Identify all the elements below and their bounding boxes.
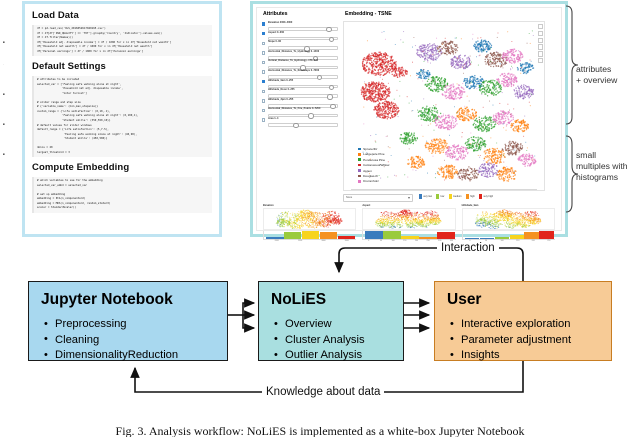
attribute-label: Hillshade_3pm 0..255: [268, 98, 338, 101]
notebook-heading-compute-embedding: Compute Embedding: [32, 162, 212, 173]
attribute-checkbox[interactable]: [262, 70, 265, 73]
histogram-bar[interactable]: [480, 238, 495, 239]
attribute-checkbox[interactable]: [262, 61, 265, 64]
margin-tick: ·: [3, 62, 4, 66]
attribute-slider-row[interactable]: Hillshade_3pm 0..255: [261, 98, 339, 108]
annotation-line: histograms: [576, 172, 638, 183]
box-item: Cleaning: [55, 333, 227, 349]
legend-swatch: [358, 158, 361, 161]
attribute-slider-row[interactable]: Elevation 2000..4000: [261, 21, 339, 31]
attribute-checkbox[interactable]: [262, 32, 265, 35]
legend-swatch: [358, 180, 361, 183]
notebook-code-cell-load-data[interactable]: df = pd.read_csv('OLS_2016052617040165.c…: [32, 25, 212, 56]
small-multiple-scatter[interactable]: [362, 208, 455, 230]
box-item: Interactive exploration: [461, 317, 611, 333]
attribute-range-slider[interactable]: [268, 123, 338, 127]
attribute-label: Slope 0..60: [268, 40, 338, 43]
attribute-slider-row[interactable]: Hillshade_9am 0..255: [261, 79, 339, 89]
histogram-bar[interactable]: [539, 231, 554, 239]
attribute-checkbox[interactable]: [262, 42, 265, 45]
edge-label-knowledge: Knowledge about data: [262, 386, 384, 398]
attributes-panel-title: Attributes: [263, 11, 288, 17]
axis-tick-label: 250: [547, 240, 550, 242]
histogram-bar[interactable]: [284, 232, 302, 238]
box-item: Insights: [461, 348, 611, 364]
axis-tick-label: 3000: [321, 240, 325, 242]
figure-caption: Fig. 3. Analysis workflow: NoLiES is imp…: [18, 424, 622, 437]
attribute-label: Hillshade_Noon 0..255: [268, 88, 338, 91]
small-multiple-scatter[interactable]: [462, 208, 555, 230]
attribute-label: Horizontal_Distance_To_Roadways 0..7000: [268, 69, 338, 72]
attribute-checkbox[interactable]: [262, 99, 265, 102]
small-multiple-scatter[interactable]: [263, 208, 356, 230]
histogram-x-axis: 2000250030003500: [263, 240, 356, 243]
help-icon[interactable]: [538, 58, 543, 63]
annotation-line: attributes: [576, 64, 638, 75]
legend-swatch: [358, 153, 361, 156]
histogram-bar[interactable]: [437, 232, 455, 238]
embedding-legend[interactable]: Spruce/FirLodgepole PinePonderosa PineCo…: [358, 146, 389, 184]
box-item: Cluster Analysis: [285, 333, 403, 349]
axis-tick-label: 150: [516, 240, 519, 242]
attribute-checkbox[interactable]: [262, 51, 265, 54]
jupyter-notebook-screenshot: Load Data df = pd.read_csv('OLS_20160526…: [22, 1, 222, 237]
margin-tick: ■: [3, 40, 5, 44]
histogram-bar[interactable]: [495, 237, 510, 238]
attribute-label: Elevation 2000..4000: [268, 21, 338, 24]
bin-swatch: [436, 194, 439, 199]
figure-root: Load Data df = pd.read_csv('OLS_20160526…: [0, 0, 640, 438]
bin-swatch: [466, 194, 469, 199]
histogram-bar[interactable]: [510, 235, 525, 238]
attribute-slider-row[interactable]: Vertical_Distance_To_Hydrology -170..600: [261, 59, 339, 69]
chevron-down-icon: [408, 197, 410, 199]
color-attribute-select[interactable]: None: [343, 194, 413, 202]
legend-swatch: [358, 164, 361, 167]
notebook-code-cell-compute-embedding[interactable]: # which variables to use for the embeddi…: [32, 177, 212, 213]
legend-label: Cottonwood/Willow: [363, 163, 389, 167]
attribute-label: Horizontal_Distance_To_Fire_Points 0..72…: [268, 107, 338, 110]
notebook-heading-load-data: Load Data: [32, 10, 212, 21]
legend-swatch: [358, 175, 361, 178]
axis-tick-label: 100: [391, 240, 394, 242]
nolies-app-screenshot: Attributes Embedding - TSNE Elevation 20…: [250, 1, 568, 237]
box-item: Outlier Analysis: [285, 348, 403, 364]
edge-label-interaction: Interaction: [437, 242, 499, 254]
attribute-label: Aspect 0..360: [268, 31, 338, 34]
legend-label: Douglas-fir: [363, 174, 378, 178]
attribute-slider-row[interactable]: Aspect 0..360: [261, 31, 339, 41]
bin-label: very high: [483, 195, 493, 198]
bin-swatch: [419, 194, 422, 199]
axis-tick-label: 2500: [298, 240, 302, 242]
save-icon[interactable]: [538, 44, 543, 49]
small-multiple-histogram[interactable]: [462, 231, 555, 240]
histogram-bar[interactable]: [320, 232, 338, 239]
diagram-box-jupyter-notebook[interactable]: Jupyter Notebook Preprocessing Cleaning …: [28, 281, 228, 361]
annotation-line: multiples with: [576, 161, 638, 172]
annotation-small-multiples: small multiples with histograms: [576, 150, 638, 183]
small-multiple[interactable]: Aspect050100150200250300350: [362, 204, 455, 238]
attribute-slider-row[interactable]: Slope 0..60: [261, 40, 339, 50]
attribute-checkbox[interactable]: [262, 22, 265, 25]
legend-label: Ponderosa Pine: [363, 158, 385, 162]
bin-legend-item[interactable]: low: [436, 194, 444, 199]
histogram-bar[interactable]: [401, 236, 419, 238]
bin-legend-item[interactable]: very low: [419, 194, 432, 199]
slider-handle[interactable]: [293, 123, 298, 128]
box-item-list: Overview Cluster Analysis Outlier Analys…: [259, 317, 403, 364]
bin-legend-item[interactable]: high: [466, 194, 475, 199]
box-title: User: [447, 291, 611, 309]
color-select-value: None: [346, 196, 352, 199]
histogram-bar[interactable]: [365, 231, 383, 239]
attribute-slider-row[interactable]: Horizontal_Distance_To_Hydrology 0..1400: [261, 50, 339, 60]
attribute-label: Hillshade_9am 0..255: [268, 79, 338, 82]
margin-tick: ■: [3, 122, 5, 126]
attribute-slider-row[interactable]: Horizontal_Distance_To_Roadways 0..7000: [261, 69, 339, 79]
annotation-line: + overview: [576, 75, 638, 86]
attribute-slider-row[interactable]: Hillshade_Noon 0..255: [261, 88, 339, 98]
attribute-checkbox[interactable]: [262, 80, 265, 83]
wheel-zoom-icon[interactable]: [538, 38, 543, 43]
attribute-checkbox[interactable]: [262, 109, 265, 112]
attribute-label: Vertical_Distance_To_Hydrology -170..600: [268, 59, 338, 62]
legend-swatch: [358, 169, 361, 172]
axis-tick-label: 0: [368, 240, 369, 242]
box-item: Parameter adjustment: [461, 333, 611, 349]
small-multiple[interactable]: Elevation2000250030003500: [263, 204, 356, 238]
axis-tick-label: 3500: [345, 240, 349, 242]
histogram-bar[interactable]: [383, 231, 401, 238]
legend-label: Lodgepole Pine: [363, 152, 385, 156]
box-title: Jupyter Notebook: [41, 291, 227, 309]
axis-tick-label: 2000: [275, 240, 279, 242]
small-multiple[interactable]: Hillshade_9am050100150200250: [462, 204, 555, 238]
box-item-list: Preprocessing Cleaning DimensionalityRed…: [29, 317, 227, 364]
legend-swatch: [358, 148, 361, 151]
bin-label: very low: [423, 195, 432, 198]
legend-item[interactable]: Krummholz: [358, 179, 389, 184]
annotation-line: small: [576, 150, 638, 161]
axis-tick-label: 50: [380, 240, 382, 242]
notebook-heading-default-settings: Default Settings: [32, 61, 212, 72]
attribute-checkbox[interactable]: [262, 90, 265, 93]
histogram-bar[interactable]: [266, 237, 284, 239]
bin-label: low: [441, 195, 445, 198]
embedding-axis-slider[interactable]: [343, 187, 545, 192]
axis-tick-label: 250: [426, 240, 429, 242]
diagram-box-user[interactable]: User Interactive exploration Parameter a…: [434, 281, 612, 361]
legend-label: Krummholz: [363, 179, 379, 183]
box-item: Preprocessing: [55, 317, 227, 333]
notebook-code-cell-default-settings[interactable]: # attributes to be included selected_var…: [32, 76, 212, 157]
small-multiple-histogram[interactable]: [362, 231, 455, 240]
legend-item[interactable]: Ponderosa Pine: [358, 157, 389, 162]
axis-tick-label: 200: [532, 240, 535, 242]
histogram-bar[interactable]: [338, 236, 356, 238]
axis-tick-label: 100: [501, 240, 504, 242]
legend-item[interactable]: Cottonwood/Willow: [358, 162, 389, 167]
legend-label: Aspen: [363, 169, 372, 173]
attribute-label: Horizontal_Distance_To_Hydrology 0..1400: [268, 50, 338, 53]
bin-swatch: [449, 194, 452, 199]
box-item: DimensionalityReduction: [55, 348, 227, 364]
legend-label: Spruce/Fir: [363, 147, 377, 151]
attribute-checkbox[interactable]: [262, 118, 265, 121]
bin-swatch: [479, 194, 482, 199]
histogram-bar[interactable]: [524, 232, 539, 238]
box-item-list: Interactive exploration Parameter adjust…: [435, 317, 611, 364]
bin-label: high: [470, 195, 475, 198]
axis-tick-label: 150: [403, 240, 406, 242]
attribute-slider-list: Elevation 2000..4000Aspect 0..360Slope 0…: [261, 21, 339, 127]
embedding-scatter-plot[interactable]: Spruce/FirLodgepole PinePonderosa PineCo…: [343, 21, 545, 191]
pan-icon[interactable]: [538, 24, 543, 29]
small-multiples-row: Elevation2000250030003500Aspect050100150…: [263, 204, 555, 238]
reset-icon[interactable]: [538, 51, 543, 56]
margin-tick: ■: [3, 152, 5, 156]
embedding-plot-title: Embedding - TSNE: [345, 11, 392, 17]
box-title: NoLiES: [271, 291, 403, 309]
bin-legend-item[interactable]: very high: [479, 194, 493, 199]
axis-tick-label: 200: [415, 240, 418, 242]
attribute-slider-row[interactable]: Area 1..4: [261, 117, 339, 127]
margin-tick: ■: [3, 92, 5, 96]
attribute-slider-row[interactable]: Horizontal_Distance_To_Fire_Points 0..72…: [261, 107, 339, 117]
attribute-label: Area 1..4: [268, 117, 338, 120]
bin-legend-item[interactable]: medium: [449, 194, 462, 199]
annotation-attributes-overview: attributes + overview: [576, 64, 638, 86]
bin-label: medium: [453, 195, 462, 198]
box-item: Overview: [285, 317, 403, 333]
histogram-bar[interactable]: [419, 237, 437, 239]
diagram-box-nolies[interactable]: NoLiES Overview Cluster Analysis Outlier…: [258, 281, 404, 361]
binned-color-legend[interactable]: very lowlowmediumhighvery high: [419, 194, 496, 199]
plot-toolbar[interactable]: [538, 24, 543, 65]
histogram-bar[interactable]: [302, 231, 320, 239]
box-zoom-icon[interactable]: [538, 31, 543, 36]
small-multiple-histogram[interactable]: [263, 231, 356, 240]
